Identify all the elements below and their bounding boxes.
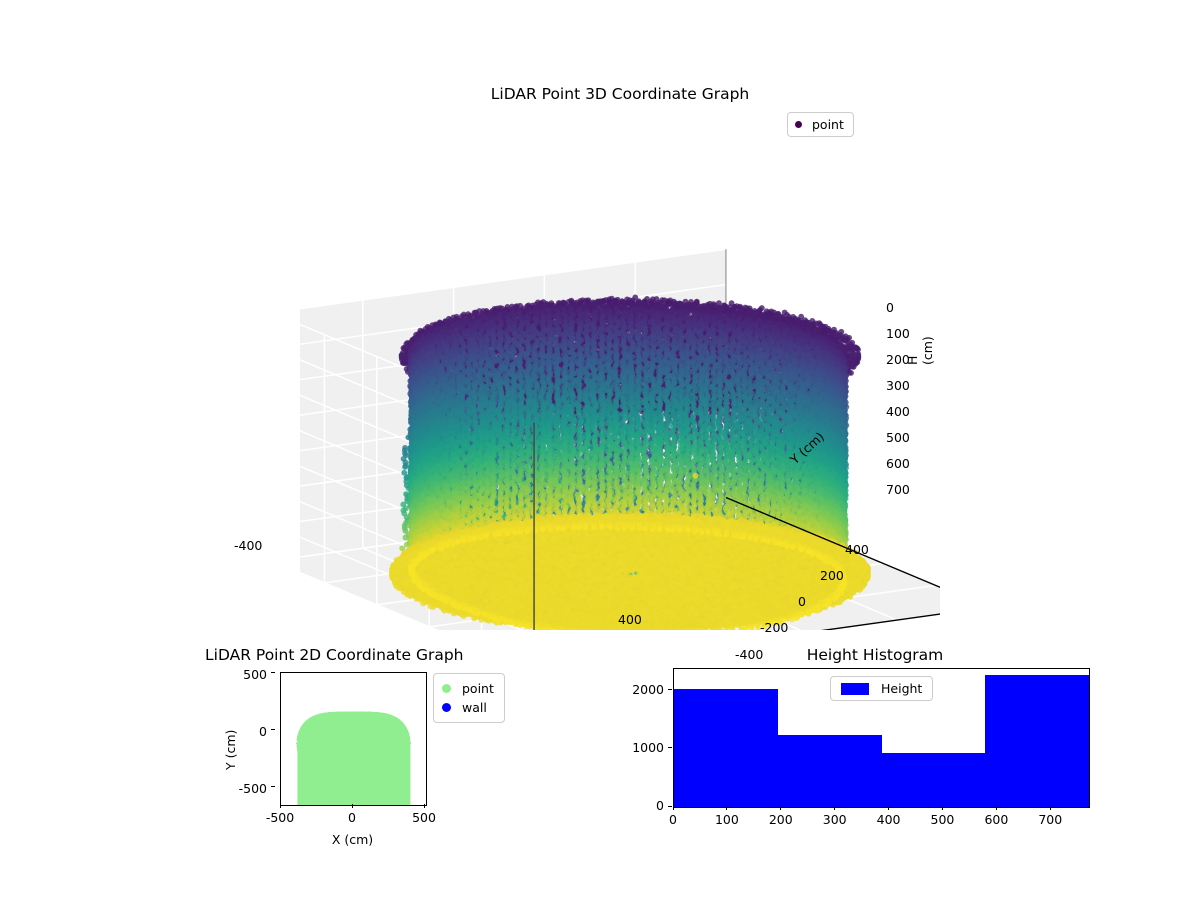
x-tick: 400: [618, 612, 642, 627]
y-tick: 200: [820, 568, 844, 583]
histogram-x-tick: 0: [643, 812, 703, 827]
plot-3d-legend: point: [787, 112, 854, 137]
x-tick: 0: [322, 810, 382, 825]
plot-3d-x-axis: -400 400: [300, 450, 720, 630]
y-tick: 500: [243, 667, 267, 682]
histogram-y-axis: 010002000: [640, 660, 672, 820]
legend-entry-point: point: [442, 679, 494, 698]
histogram-x-tick: 300: [805, 812, 865, 827]
histogram-bar: [985, 675, 1089, 807]
plot-3d-panel: LiDAR Point 3D Coordinate Graph point 0 …: [300, 70, 940, 630]
y-tick: -500: [239, 781, 267, 796]
legend-entry-wall: wall: [442, 698, 494, 717]
z-tick: 0: [886, 300, 894, 315]
legend-marker-point: [442, 684, 451, 693]
histogram-x-tick: 100: [697, 812, 757, 827]
y-axis-label: Y (cm): [223, 730, 238, 770]
histogram-x-tick: 500: [912, 812, 972, 827]
legend-patch-height: [841, 683, 869, 695]
plot-2d-legend: point wall: [433, 673, 505, 723]
plot-2d-axes: [280, 672, 427, 806]
legend-label-wall: wall: [462, 700, 487, 715]
x-tick: -400: [234, 538, 262, 553]
plot-3d-y-axis: 400 200 0 -200 -400: [720, 400, 940, 630]
plot-2d-title: LiDAR Point 2D Coordinate Graph: [205, 646, 505, 664]
plot-2d-y-axis: 500 0 -500: [205, 664, 275, 814]
legend-label-point: point: [462, 681, 494, 696]
y-tick: 0: [798, 594, 806, 609]
z-tick: 300: [886, 378, 910, 393]
histogram-y-tick: 1000: [632, 740, 664, 755]
histogram-x-tick: 400: [859, 812, 919, 827]
histogram-legend: Height: [830, 676, 933, 701]
x-axis-label: X (cm): [280, 832, 425, 847]
histogram-bar: [778, 735, 882, 807]
legend-label-height: Height: [881, 681, 922, 696]
histogram-x-tick: 700: [1020, 812, 1080, 827]
histogram-panel: Height Histogram 010002000 0100200300400…: [640, 640, 1110, 855]
histogram-title: Height Histogram: [665, 646, 1085, 664]
matplotlib-figure: LiDAR Point 3D Coordinate Graph point 0 …: [0, 0, 1200, 900]
histogram-bar: [674, 689, 778, 807]
legend-label-point: point: [812, 117, 844, 132]
histogram-x-axis: 0100200300400500600700: [640, 806, 1110, 846]
plot-2d-panel: LiDAR Point 2D Coordinate Graph 500 0 -5…: [205, 640, 505, 855]
x-tick: 500: [394, 810, 454, 825]
legend-marker-point: [795, 121, 802, 128]
histogram-y-tick: 2000: [632, 682, 664, 697]
histogram-x-tick: 600: [966, 812, 1026, 827]
y-tick: 400: [845, 542, 869, 557]
y-tick: 0: [259, 724, 267, 739]
histogram-bar: [882, 753, 986, 807]
x-tick: -500: [250, 810, 310, 825]
y-tick: -200: [760, 620, 788, 635]
plot-2d-canvas: [281, 673, 426, 805]
z-axis-label: H (cm): [905, 330, 935, 365]
legend-marker-wall: [442, 703, 451, 712]
histogram-x-tick: 200: [751, 812, 811, 827]
